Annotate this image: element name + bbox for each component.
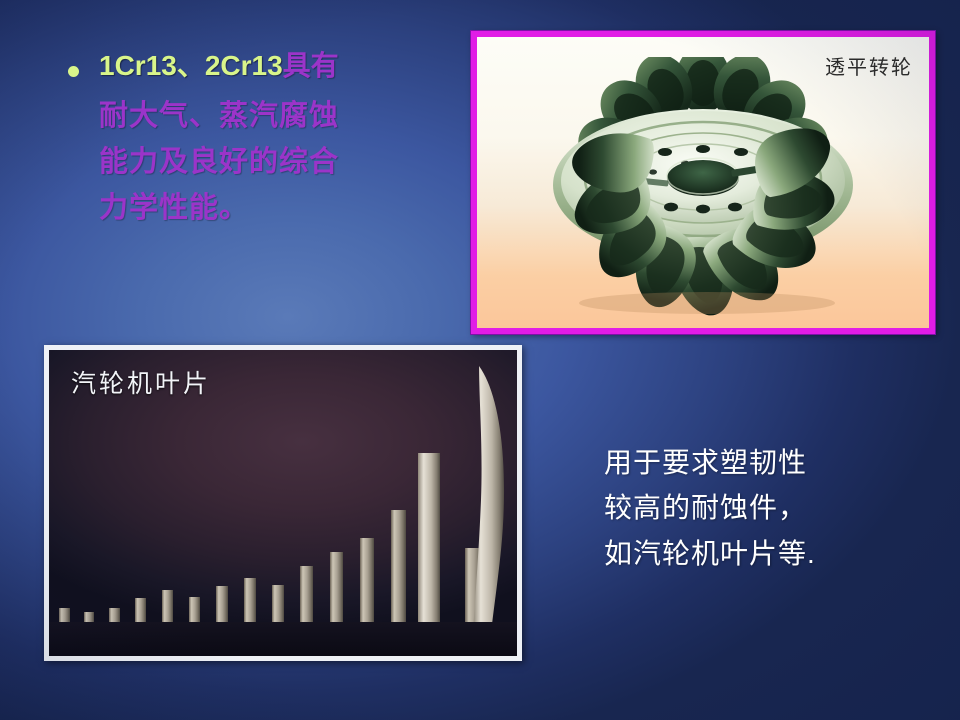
turbine-runner-illustration xyxy=(493,57,913,319)
turbine-blades-figure: 汽轮机叶片 xyxy=(44,345,522,661)
bullet-body-line-3: 力学性能。 xyxy=(99,186,460,232)
bullet-first-line-row: 1Cr13、2Cr13具有 xyxy=(60,52,460,80)
turbine-runner-label: 透平转轮 xyxy=(825,51,913,80)
bullet-first-line: 1Cr13、2Cr13具有 xyxy=(99,52,339,80)
right-caption-block: 用于要求塑韧性 较高的耐蚀件， 如汽轮机叶片等. xyxy=(604,440,816,576)
slide-canvas: 1Cr13、2Cr13具有 耐大气、蒸汽腐蚀 能力及良好的综合 力学性能。 用于… xyxy=(0,0,960,720)
blade-item xyxy=(388,510,409,640)
turbine-blades-label: 汽轮机叶片 xyxy=(71,364,211,400)
right-caption-line-1: 用于要求塑韧性 xyxy=(604,440,816,485)
blade-item xyxy=(414,453,444,641)
blade-row xyxy=(56,366,504,642)
bullet-body-line-2: 能力及良好的综合 xyxy=(99,140,460,186)
right-caption-line-2: 较高的耐蚀件， xyxy=(604,485,816,530)
right-caption-line-3: 如汽轮机叶片等. xyxy=(604,531,816,576)
turbine-runner-image xyxy=(493,57,913,319)
grade-designation-text: 1Cr13、2Cr13 xyxy=(99,50,283,81)
bullet-body-lines: 耐大气、蒸汽腐蚀 能力及良好的综合 力学性能。 xyxy=(99,94,460,231)
bullet-line1-suffix: 具有 xyxy=(283,50,339,81)
bullet-text-block: 1Cr13、2Cr13具有 耐大气、蒸汽腐蚀 能力及良好的综合 力学性能。 xyxy=(60,52,460,231)
blades-floor xyxy=(49,622,517,656)
bullet-dot-icon xyxy=(68,66,79,77)
turbine-runner-figure: 透平转轮 xyxy=(471,31,935,334)
bullet-body-line-1: 耐大气、蒸汽腐蚀 xyxy=(99,94,460,140)
runner-shadow xyxy=(579,292,835,314)
